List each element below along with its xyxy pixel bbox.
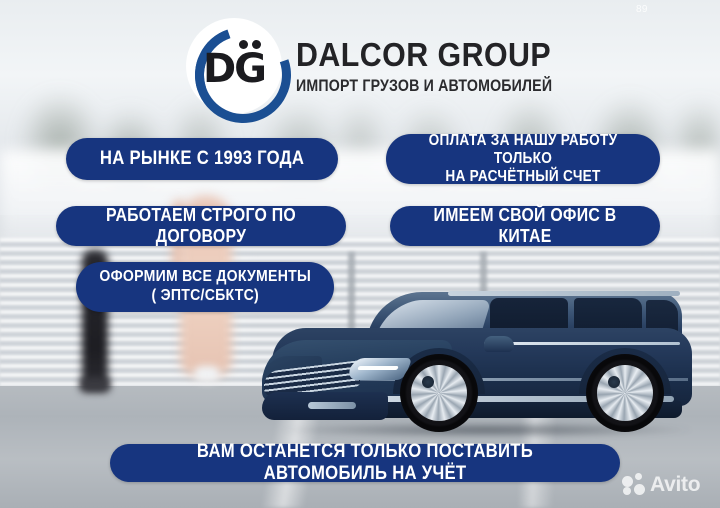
car-rear-wheel — [586, 354, 664, 432]
badge-office-in-china: ИМЕЕМ СВОЙ ОФИС В КИТАЕ — [390, 206, 660, 246]
footer-banner-label: ВАМ ОСТАНЕТСЯ ТОЛЬКО ПОСТАВИТЬ АВТОМОБИЛ… — [141, 441, 590, 486]
listing-id: 89 — [636, 4, 648, 15]
car-rear-rim — [597, 365, 653, 421]
footer-banner: ВАМ ОСТАНЕТСЯ ТОЛЬКО ПОСТАВИТЬ АВТОМОБИЛ… — [110, 444, 620, 482]
badge-label: НА РЫНКЕ С 1993 ГОДА — [100, 148, 304, 170]
car-front-rim — [411, 365, 467, 421]
badge-years-on-market: НА РЫНКЕ С 1993 ГОДА — [66, 138, 338, 180]
badge-payment-bank-account: ОПЛАТА ЗА НАШУ РАБОТУ ТОЛЬКО НА РАСЧЁТНЫ… — [386, 134, 660, 184]
dg-monogram-ring-logo-icon: DG — [186, 18, 282, 114]
car-headlight-led-strip — [357, 366, 399, 370]
logo-dots-icon — [239, 40, 265, 50]
brand-header: DG DALCOR GROUP ИМПОРТ ГРУЗОВ И АВТОМОБИ… — [186, 18, 546, 114]
background-person-foot — [80, 378, 110, 392]
car-rear-hub — [608, 376, 620, 388]
advertisement-banner: 89 DG DALCOR GROUP ИМПОРТ ГРУЗОВ И АВТОМ… — [0, 0, 720, 508]
car-front-wheel — [400, 354, 478, 432]
brand-text-block: DALCOR GROUP ИМПОРТ ГРУЗОВ И АВТОМОБИЛЕЙ — [296, 38, 594, 95]
avito-watermark: Avito — [622, 470, 712, 498]
car-side-mirror — [484, 336, 514, 352]
car-roof-rail — [448, 291, 680, 296]
badge-label: ОФОРМИМ ВСЕ ДОКУМЕНТЫ ( ЭПТС/СБКТС) — [99, 268, 311, 306]
logo-initials: DG — [186, 18, 282, 114]
badge-label: ОПЛАТА ЗА НАШУ РАБОТУ ТОЛЬКО НА РАСЧЁТНЫ… — [402, 132, 643, 187]
brand-title: DALCOR GROUP — [296, 38, 570, 71]
badge-label: ИМЕЕМ СВОЙ ОФИС В КИТАЕ — [406, 205, 644, 247]
avito-wordmark: Avito — [650, 474, 700, 495]
car-fog-light — [308, 402, 356, 409]
background-person-shoe — [194, 366, 220, 382]
avito-dots-icon — [622, 473, 646, 495]
badge-work-by-contract: РАБОТАЕМ СТРОГО ПО ДОГОВОРУ — [56, 206, 346, 246]
brand-subtitle: ИМПОРТ ГРУЗОВ И АВТОМОБИЛЕЙ — [296, 78, 552, 95]
car-image — [262, 292, 702, 442]
badge-documents: ОФОРМИМ ВСЕ ДОКУМЕНТЫ ( ЭПТС/СБКТС) — [76, 262, 334, 312]
car-front-hub — [422, 376, 434, 388]
badge-label: РАБОТАЕМ СТРОГО ПО ДОГОВОРУ — [73, 205, 328, 247]
